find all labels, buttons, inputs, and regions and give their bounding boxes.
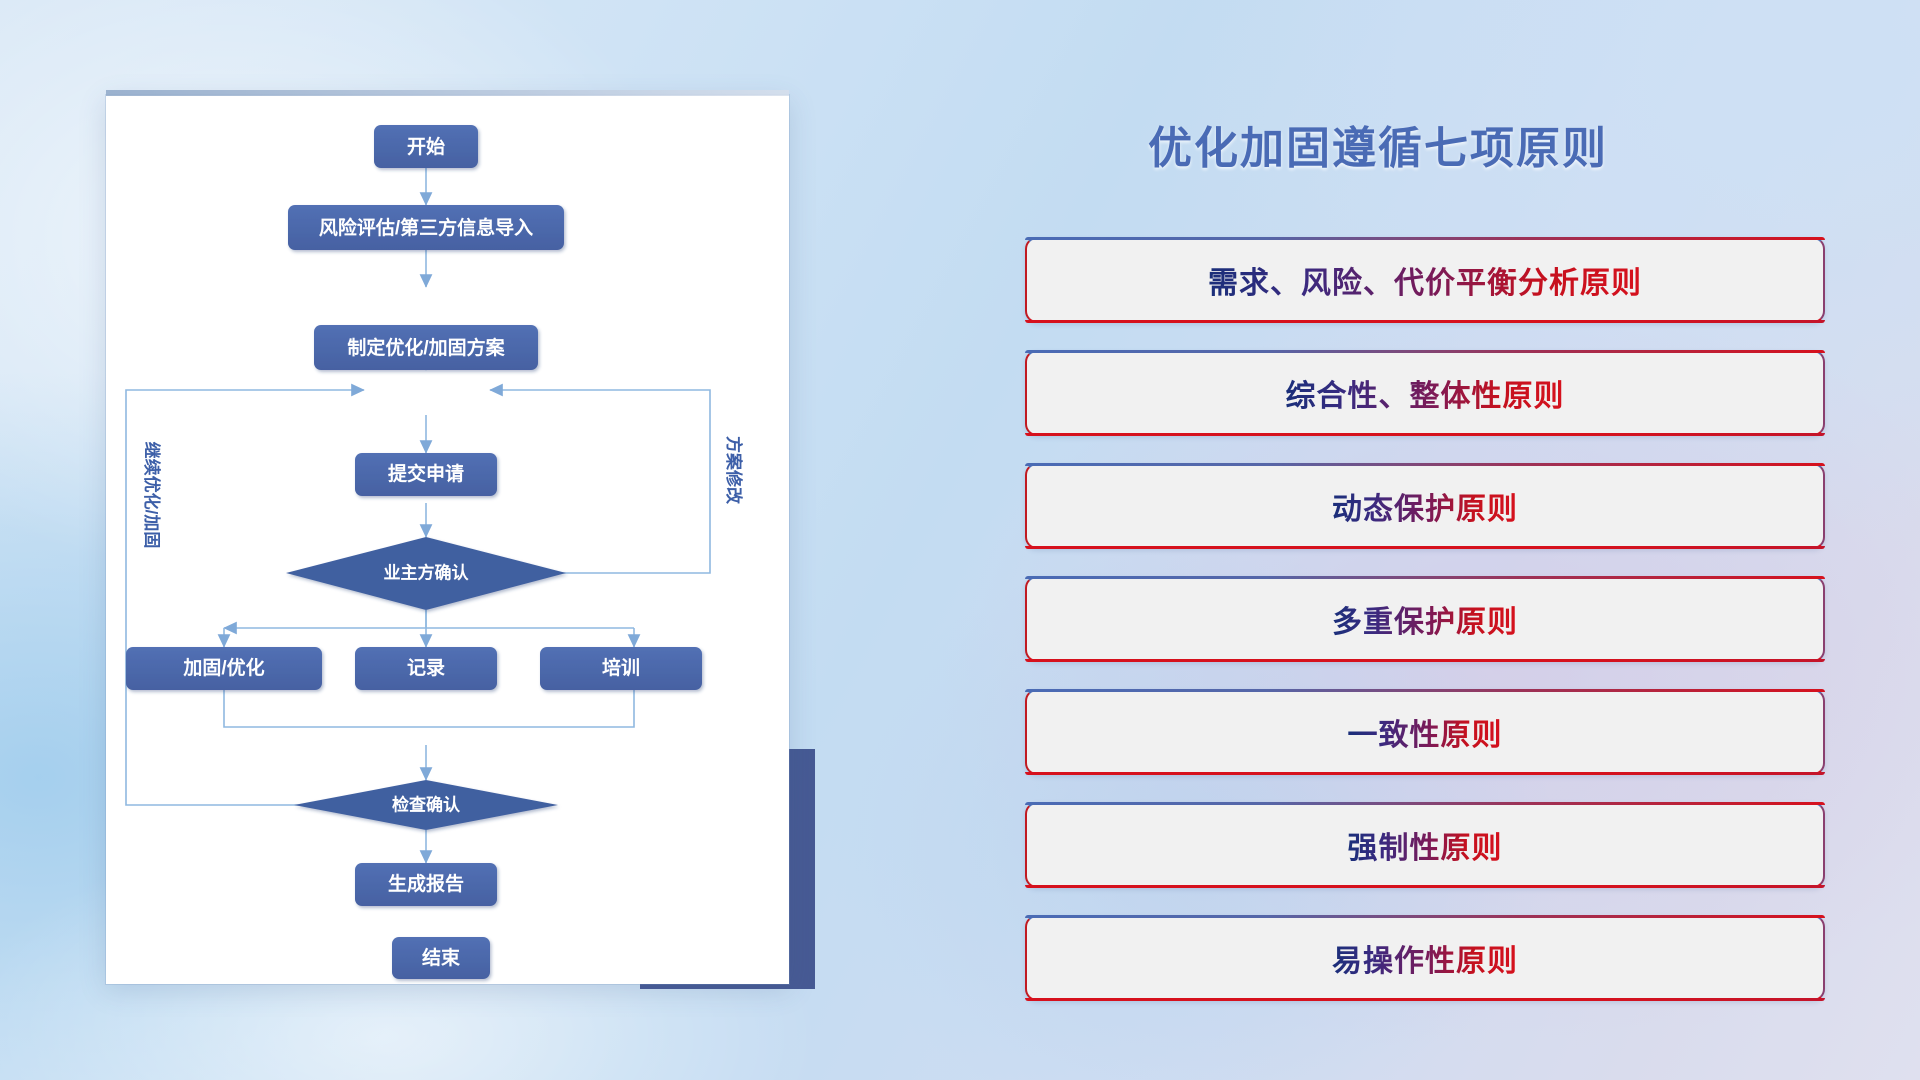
- flow-node-owner: 业主方确认: [384, 562, 470, 582]
- principles-title: 优化加固遵循七项原则: [1148, 112, 1608, 176]
- principle-card[interactable]: 一致性原则: [1025, 689, 1825, 775]
- principle-card[interactable]: 易操作性原则: [1025, 915, 1825, 1001]
- flow-node-end: 结束: [422, 946, 461, 969]
- principles-list: 需求、风险、代价平衡分析原则 综合性、整体性原则 动态保护原则 多重保护原则 一…: [1025, 237, 1825, 1028]
- principle-label: 易操作性原则: [1332, 936, 1518, 980]
- principle-label: 综合性、整体性原则: [1286, 371, 1565, 415]
- flow-node-reinforce: 加固/优化: [182, 656, 264, 679]
- flow-node-check: 检查确认: [392, 794, 461, 814]
- flow-node-submit: 提交申请: [388, 462, 464, 485]
- principle-label: 需求、风险、代价平衡分析原则: [1208, 258, 1642, 302]
- flow-node-record: 记录: [407, 657, 445, 679]
- principle-label: 一致性原则: [1348, 710, 1503, 754]
- principle-card[interactable]: 强制性原则: [1025, 802, 1825, 888]
- principle-label: 强制性原则: [1348, 823, 1503, 867]
- flow-node-train: 培训: [602, 656, 640, 679]
- principle-card[interactable]: 动态保护原则: [1025, 463, 1825, 549]
- principle-card[interactable]: 需求、风险、代价平衡分析原则: [1025, 237, 1825, 323]
- flow-node-risk: 风险评估/第三方信息导入: [319, 216, 533, 239]
- principle-card[interactable]: 综合性、整体性原则: [1025, 350, 1825, 436]
- flowchart-diagram: 开始 风险评估/第三方信息导入 制定优化/加固方案 提交申请 业主方确认 加固/…: [106, 95, 789, 984]
- principle-card[interactable]: 多重保护原则: [1025, 576, 1825, 662]
- flow-edge-label-left: 继续优化/加固: [142, 442, 162, 549]
- principle-label: 动态保护原则: [1332, 484, 1518, 528]
- flow-node-report: 生成报告: [388, 872, 464, 895]
- flow-node-start: 开始: [407, 135, 445, 158]
- principle-label: 多重保护原则: [1332, 597, 1518, 641]
- flow-edge-label-right: 方案修改: [724, 436, 744, 505]
- flow-node-plan: 制定优化/加固方案: [347, 336, 505, 359]
